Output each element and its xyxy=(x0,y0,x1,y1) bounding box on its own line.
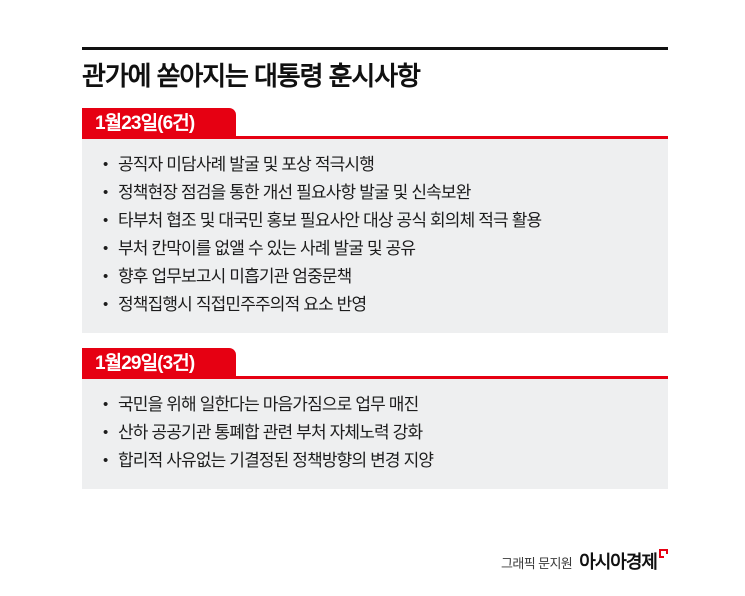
content-frame: 관가에 쏟아지는 대통령 훈시사항 1월23일(6건) • 공직자 미담사례 발… xyxy=(82,0,668,489)
bullet-icon: • xyxy=(103,291,107,319)
date-badge-jan-29: 1월29일(3건) xyxy=(82,348,236,379)
item-list-jan-29: • 국민을 위해 일한다는 마음가짐으로 업무 매진 • 산하 공공기관 통폐합… xyxy=(82,391,668,475)
bullet-icon: • xyxy=(103,391,107,419)
items-panel-jan-23: • 공직자 미담사례 발굴 및 포상 적극시행 • 정책현장 점검을 통한 개선… xyxy=(82,139,668,333)
section-jan-29: 1월29일(3건) • 국민을 위해 일한다는 마음가짐으로 업무 매진 • 산… xyxy=(82,348,668,489)
brand-logo: 아시아경제 xyxy=(579,548,668,574)
bullet-icon: • xyxy=(103,419,107,447)
bullet-icon: • xyxy=(103,263,107,291)
badge-row: 1월23일(6건) xyxy=(82,108,668,139)
list-item-text: 부처 칸막이를 없앨 수 있는 사례 발굴 및 공유 xyxy=(118,239,415,258)
bullet-icon: • xyxy=(103,179,107,207)
list-item: • 정책집행시 직접민주주의적 요소 반영 xyxy=(82,291,668,319)
page-title: 관가에 쏟아지는 대통령 훈시사항 xyxy=(82,50,668,92)
list-item-text: 합리적 사유없는 기결정된 정책방향의 변경 지양 xyxy=(118,451,433,470)
asiae-logo-mark-icon xyxy=(659,549,668,558)
list-item: • 향후 업무보고시 미흡기관 엄중문책 xyxy=(82,263,668,291)
bullet-icon: • xyxy=(103,151,107,179)
list-item-text: 향후 업무보고시 미흡기관 엄중문책 xyxy=(118,267,351,286)
item-list-jan-23: • 공직자 미담사례 발굴 및 포상 적극시행 • 정책현장 점검을 통한 개선… xyxy=(82,151,668,319)
list-item: • 공직자 미담사례 발굴 및 포상 적극시행 xyxy=(82,151,668,179)
list-item-text: 정책집행시 직접민주주의적 요소 반영 xyxy=(118,295,366,314)
infographic-root: 관가에 쏟아지는 대통령 훈시사항 1월23일(6건) • 공직자 미담사례 발… xyxy=(0,0,745,596)
bullet-icon: • xyxy=(103,235,107,263)
date-badge-jan-23: 1월23일(6건) xyxy=(82,108,236,139)
list-item: • 타부처 협조 및 대국민 홍보 필요사안 대상 공식 회의체 적극 활용 xyxy=(82,207,668,235)
list-item-text: 정책현장 점검을 통한 개선 필요사항 발굴 및 신속보완 xyxy=(118,183,471,202)
list-item: • 산하 공공기관 통폐합 관련 부처 자체노력 강화 xyxy=(82,419,668,447)
list-item-text: 타부처 협조 및 대국민 홍보 필요사안 대상 공식 회의체 적극 활용 xyxy=(118,211,541,230)
bullet-icon: • xyxy=(103,447,107,475)
list-item-text: 산하 공공기관 통폐합 관련 부처 자체노력 강화 xyxy=(118,423,422,442)
badge-underline xyxy=(82,376,668,379)
footer-credit: 그래픽 문지원 아시아경제 xyxy=(501,548,668,574)
list-item: • 국민을 위해 일한다는 마음가짐으로 업무 매진 xyxy=(82,391,668,419)
bullet-icon: • xyxy=(103,207,107,235)
brand-name: 아시아경제 xyxy=(579,548,657,574)
list-item: • 합리적 사유없는 기결정된 정책방향의 변경 지양 xyxy=(82,447,668,475)
section-jan-23: 1월23일(6건) • 공직자 미담사례 발굴 및 포상 적극시행 • 정책현장… xyxy=(82,108,668,333)
graphic-credit: 그래픽 문지원 xyxy=(501,553,572,572)
badge-underline xyxy=(82,136,668,139)
list-item-text: 공직자 미담사례 발굴 및 포상 적극시행 xyxy=(118,155,374,174)
list-item: • 정책현장 점검을 통한 개선 필요사항 발굴 및 신속보완 xyxy=(82,179,668,207)
badge-row: 1월29일(3건) xyxy=(82,348,668,379)
list-item: • 부처 칸막이를 없앨 수 있는 사례 발굴 및 공유 xyxy=(82,235,668,263)
list-item-text: 국민을 위해 일한다는 마음가짐으로 업무 매진 xyxy=(118,395,418,414)
items-panel-jan-29: • 국민을 위해 일한다는 마음가짐으로 업무 매진 • 산하 공공기관 통폐합… xyxy=(82,379,668,489)
